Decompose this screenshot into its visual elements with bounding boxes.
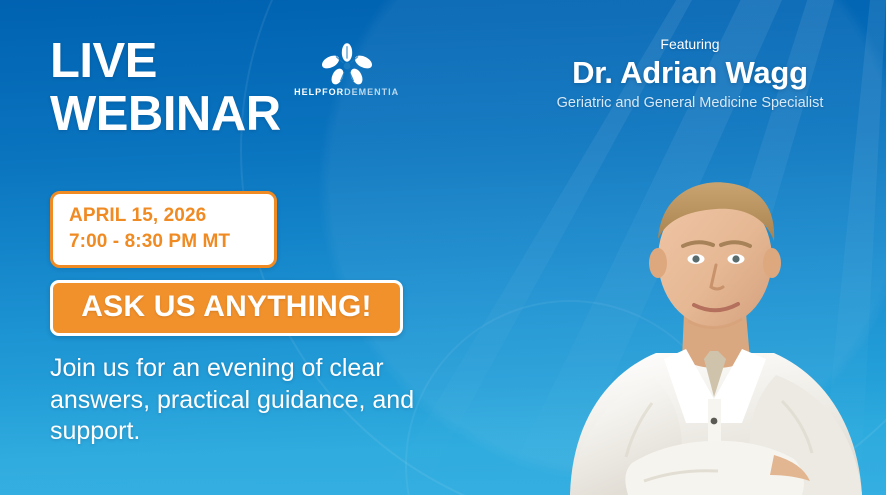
headline-webinar: WEBINAR [50,87,281,142]
headline-row: LIVE WEBINAR [50,38,470,142]
ask-us-anything-button[interactable]: ASK US ANYTHING! [50,280,403,336]
speaker-info: Featuring Dr. Adrian Wagg Geriatric and … [500,36,880,113]
schedule-box: APRIL 15, 2026 7:00 - 8:30 PM MT [50,191,277,268]
live-webinar-banner: LIVE WEBINAR [0,0,886,495]
speaker-portrait-photo [536,163,886,495]
speaker-role: Geriatric and General Medicine Specialis… [500,94,880,112]
schedule-time: 7:00 - 8:30 PM MT [69,229,274,255]
background-arc-small [405,300,735,495]
speaker-portrait [536,163,886,495]
description-text: Join us for an evening of clear answers,… [50,353,440,448]
headline-live: LIVE [50,38,281,85]
helpfordementia-logo[interactable]: HELPFORDEMENTIA [295,43,399,97]
flower-icon [320,43,374,85]
logo-wordmark-primary: HELPFOR [294,87,344,97]
logo-wordmark: HELPFORDEMENTIA [294,88,399,97]
speaker-name: Dr. Adrian Wagg [500,53,880,93]
headline-block: LIVE WEBINAR [50,38,470,142]
logo-wordmark-secondary: DEMENTIA [344,87,399,97]
headline-text-group: LIVE WEBINAR [50,38,281,142]
ask-us-anything-label: ASK US ANYTHING! [53,292,400,322]
schedule-date: APRIL 15, 2026 [69,203,274,229]
featuring-label: Featuring [500,36,880,53]
